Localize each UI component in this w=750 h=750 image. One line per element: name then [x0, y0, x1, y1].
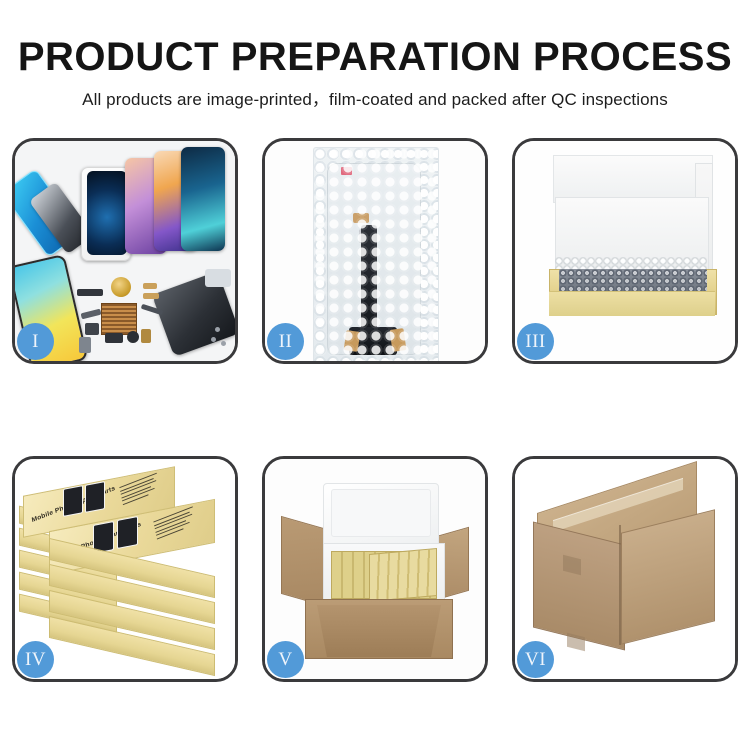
step-panel-3[interactable]: III [512, 138, 738, 364]
product-preparation-infographic: PRODUCT PREPARATION PROCESS All products… [0, 0, 750, 750]
step-badge-4: IV [17, 641, 54, 678]
page-title: PRODUCT PREPARATION PROCESS [0, 0, 750, 80]
step-panel-5[interactable]: V [262, 456, 488, 682]
steps-grid: I II [12, 138, 738, 682]
header: PRODUCT PREPARATION PROCESS All products… [0, 0, 750, 111]
step-panel-1[interactable]: I [12, 138, 238, 364]
step-badge-6: VI [517, 641, 554, 678]
step-badge-1: I [17, 323, 54, 360]
step-panel-6[interactable]: VI [512, 456, 738, 682]
step-badge-3: III [517, 323, 554, 360]
step-panel-2[interactable]: II [262, 138, 488, 364]
step-panel-4[interactable]: Mobile Phone Spare Parts Mobile Phone Sp… [12, 456, 238, 682]
step-badge-5: V [267, 641, 304, 678]
step-badge-2: II [267, 323, 304, 360]
page-subtitle: All products are image-printed，film-coat… [0, 80, 750, 111]
